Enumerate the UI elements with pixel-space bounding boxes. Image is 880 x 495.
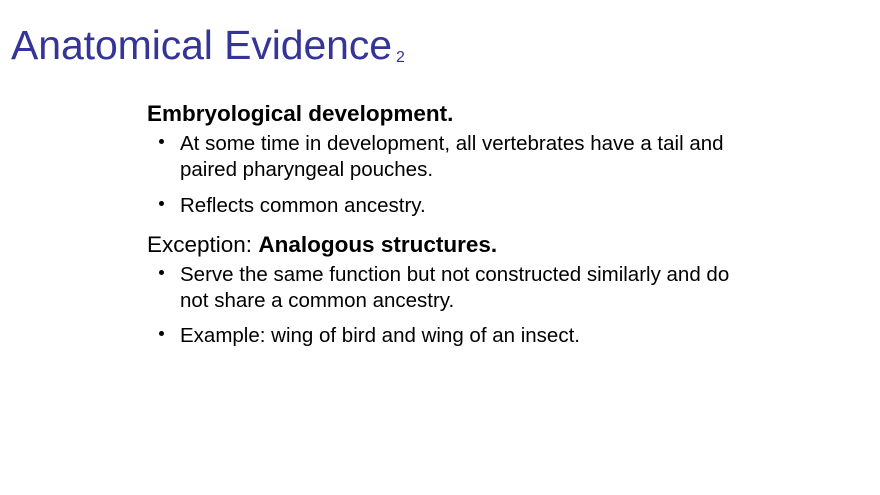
slide-body: Embryological development. At some time … — [147, 100, 767, 353]
list-item-text: Example: wing of bird and wing of an ins… — [180, 323, 740, 349]
bullet-dot-icon — [159, 331, 164, 336]
section-heading-exception-prefix: Exception: — [147, 232, 258, 257]
bullet-dot-icon — [159, 139, 164, 144]
bullet-dot-icon — [159, 270, 164, 275]
bullet-list-embryological: At some time in development, all vertebr… — [147, 131, 767, 218]
page-title-text: Anatomical Evidence — [11, 22, 392, 68]
bullet-list-analogous: Serve the same function but not construc… — [147, 262, 767, 349]
section-heading-exception: Exception: Analogous structures. — [147, 231, 767, 258]
list-item: Serve the same function but not construc… — [147, 262, 740, 314]
list-item-text: Reflects common ancestry. — [180, 193, 740, 219]
bullet-dot-icon — [159, 201, 164, 206]
list-item: Reflects common ancestry. — [147, 193, 740, 219]
section-heading-embryological: Embryological development. — [147, 100, 767, 127]
slide-canvas: Anatomical Evidence2 Embryological devel… — [0, 0, 880, 495]
list-item-text: At some time in development, all vertebr… — [180, 131, 740, 183]
page-title-subscript: 2 — [396, 49, 405, 66]
list-item-text: Serve the same function but not construc… — [180, 262, 740, 314]
page-title: Anatomical Evidence2 — [11, 23, 401, 67]
section-heading-exception-emphasis: Analogous structures. — [258, 232, 497, 257]
list-item: At some time in development, all vertebr… — [147, 131, 740, 183]
list-item: Example: wing of bird and wing of an ins… — [147, 323, 740, 349]
